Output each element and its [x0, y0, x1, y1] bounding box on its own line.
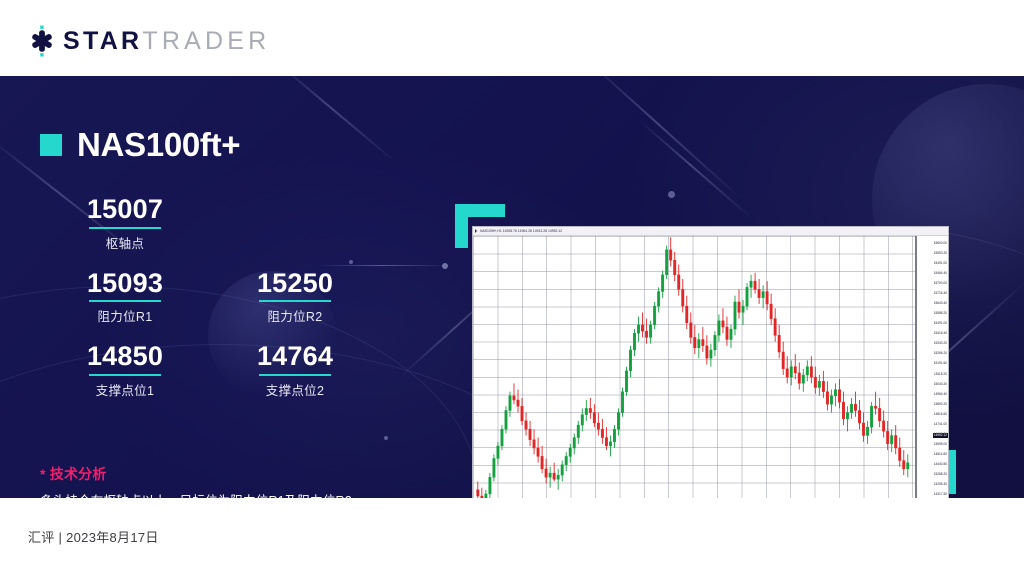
- level-label: 枢轴点: [40, 233, 210, 252]
- level-value: 14764: [210, 342, 380, 371]
- level-value: 15250: [210, 269, 380, 298]
- brand-name-bold: STAR: [63, 29, 142, 54]
- price-axis-tick: 14890.20: [934, 403, 947, 406]
- price-axis-tick: 15600.00: [934, 242, 947, 245]
- corner-bracket-top-left-vertical: [455, 204, 468, 248]
- level-underline: [259, 300, 331, 302]
- price-axis-tick: 15491.00: [934, 322, 947, 325]
- price-axis-tick: 14514.60: [934, 453, 947, 456]
- level-underline: [89, 300, 161, 302]
- current-price-label: 14952.12: [933, 433, 948, 439]
- price-axis-tick: 14440.50: [934, 463, 947, 466]
- price-axis-tick: 15491.00: [934, 262, 947, 265]
- pivot-levels: 15007 枢轴点 15093 阻力位R1 15250 阻力位R2: [40, 195, 380, 399]
- level-label: 支撑点位1: [40, 380, 210, 399]
- level-value: 14850: [40, 342, 210, 371]
- price-axis-tick: 14964.40: [934, 393, 947, 396]
- price-axis-tick: 14255.40: [934, 483, 947, 486]
- trading-chart-window[interactable]: NAS100ft+,H1 14928.76 14961.28 14913.28 …: [472, 226, 949, 498]
- price-axis-tick: 14317.50: [934, 493, 947, 496]
- price-axis-tick: 15266.20: [934, 352, 947, 355]
- brand-name-light: TRADER: [142, 29, 270, 54]
- brand-logo[interactable]: STAR TRADER: [26, 26, 270, 56]
- analysis-heading: * 技术分析: [40, 464, 440, 484]
- levels-panel: NAS100ft+ 15007 枢轴点 15093 阻力位R1: [40, 128, 440, 399]
- price-axis-tick: 15553.20: [934, 252, 947, 255]
- page-title: NAS100ft+: [77, 128, 240, 161]
- price-axis-tick: 15416.40: [934, 332, 947, 335]
- price-axis-tick: 15643.40: [934, 302, 947, 305]
- level-underline: [259, 374, 331, 376]
- star-asterisk-icon: [26, 25, 58, 57]
- instrument-title-row: NAS100ft+: [40, 128, 440, 161]
- level-label: 支撑点位2: [210, 380, 380, 399]
- level-pivot: 15007 枢轴点: [40, 195, 210, 252]
- level-label: 阻力位R1: [40, 306, 210, 325]
- dot-decoration-4: [442, 263, 448, 269]
- hero-band: NAS100ft+ 15007 枢轴点 15093 阻力位R1: [0, 76, 1024, 498]
- chart-dropdown-icon: [475, 229, 477, 233]
- chart-title: NAS100ft+,H1 14928.76 14961.28 14913.28 …: [480, 229, 562, 233]
- page-footer: 汇评 | 2023年8月17日: [0, 498, 1024, 576]
- price-axis-tick: 15464.40: [934, 272, 947, 275]
- level-support-2: 14764 支撑点位2: [210, 342, 380, 399]
- chart-container: NAS100ft+,H1 14928.76 14961.28 14913.28 …: [455, 118, 975, 474]
- price-axis[interactable]: 15600.0015553.2015491.0015464.4015700.00…: [916, 236, 948, 498]
- level-underline: [89, 227, 161, 229]
- title-bullet-square: [40, 134, 62, 156]
- analysis-line-1: 多头持仓在枢轴点以上，目标位为阻力位R1及阻力位R2。: [40, 491, 440, 498]
- level-value: 15007: [40, 195, 210, 224]
- support-row: 14850 支撑点位1 14764 支撑点位2: [40, 342, 380, 399]
- price-axis-tick: 14816.60: [934, 413, 947, 416]
- resistance-row: 15093 阻力位R1 15250 阻力位R2: [40, 269, 380, 326]
- price-axis-tick: 15716.40: [934, 292, 947, 295]
- level-value: 15093: [40, 269, 210, 298]
- price-axis-tick: 15588.20: [934, 312, 947, 315]
- level-resistance-1: 15093 阻力位R1: [40, 269, 210, 326]
- price-axis-tick: 15268.20: [934, 473, 947, 476]
- marketing-slide: STAR TRADER NAS100ft+: [0, 0, 1024, 576]
- pivot-row: 15007 枢轴点: [40, 195, 380, 252]
- technical-analysis-block: * 技术分析 多头持仓在枢轴点以上，目标位为阻力位R1及阻力位R2。 若低于枢轴…: [40, 464, 440, 498]
- page-header: STAR TRADER: [0, 0, 1024, 76]
- dot-decoration-3: [384, 436, 388, 440]
- level-resistance-2: 15250 阻力位R2: [210, 269, 380, 326]
- price-axis-tick: 15340.20: [934, 342, 947, 345]
- price-axis-tick: 15191.60: [934, 362, 947, 365]
- candlestick-plot-area[interactable]: [473, 236, 916, 498]
- chart-title-bar: NAS100ft+,H1 14928.76 14961.28 14913.28 …: [473, 227, 948, 236]
- candlestick-svg: [473, 236, 915, 498]
- price-axis-tick: 15700.00: [934, 282, 947, 285]
- footer-caption: 汇评 | 2023年8月17日: [28, 527, 159, 546]
- price-axis-tick: 14741.00: [934, 423, 947, 426]
- level-support-1: 14850 支撑点位1: [40, 342, 210, 399]
- price-axis-tick: 14595.00: [934, 443, 947, 446]
- price-axis-tick: 15115.20: [934, 373, 947, 376]
- price-axis-tick: 15040.20: [934, 383, 947, 386]
- level-label: 阻力位R2: [210, 306, 380, 325]
- level-underline: [89, 374, 161, 376]
